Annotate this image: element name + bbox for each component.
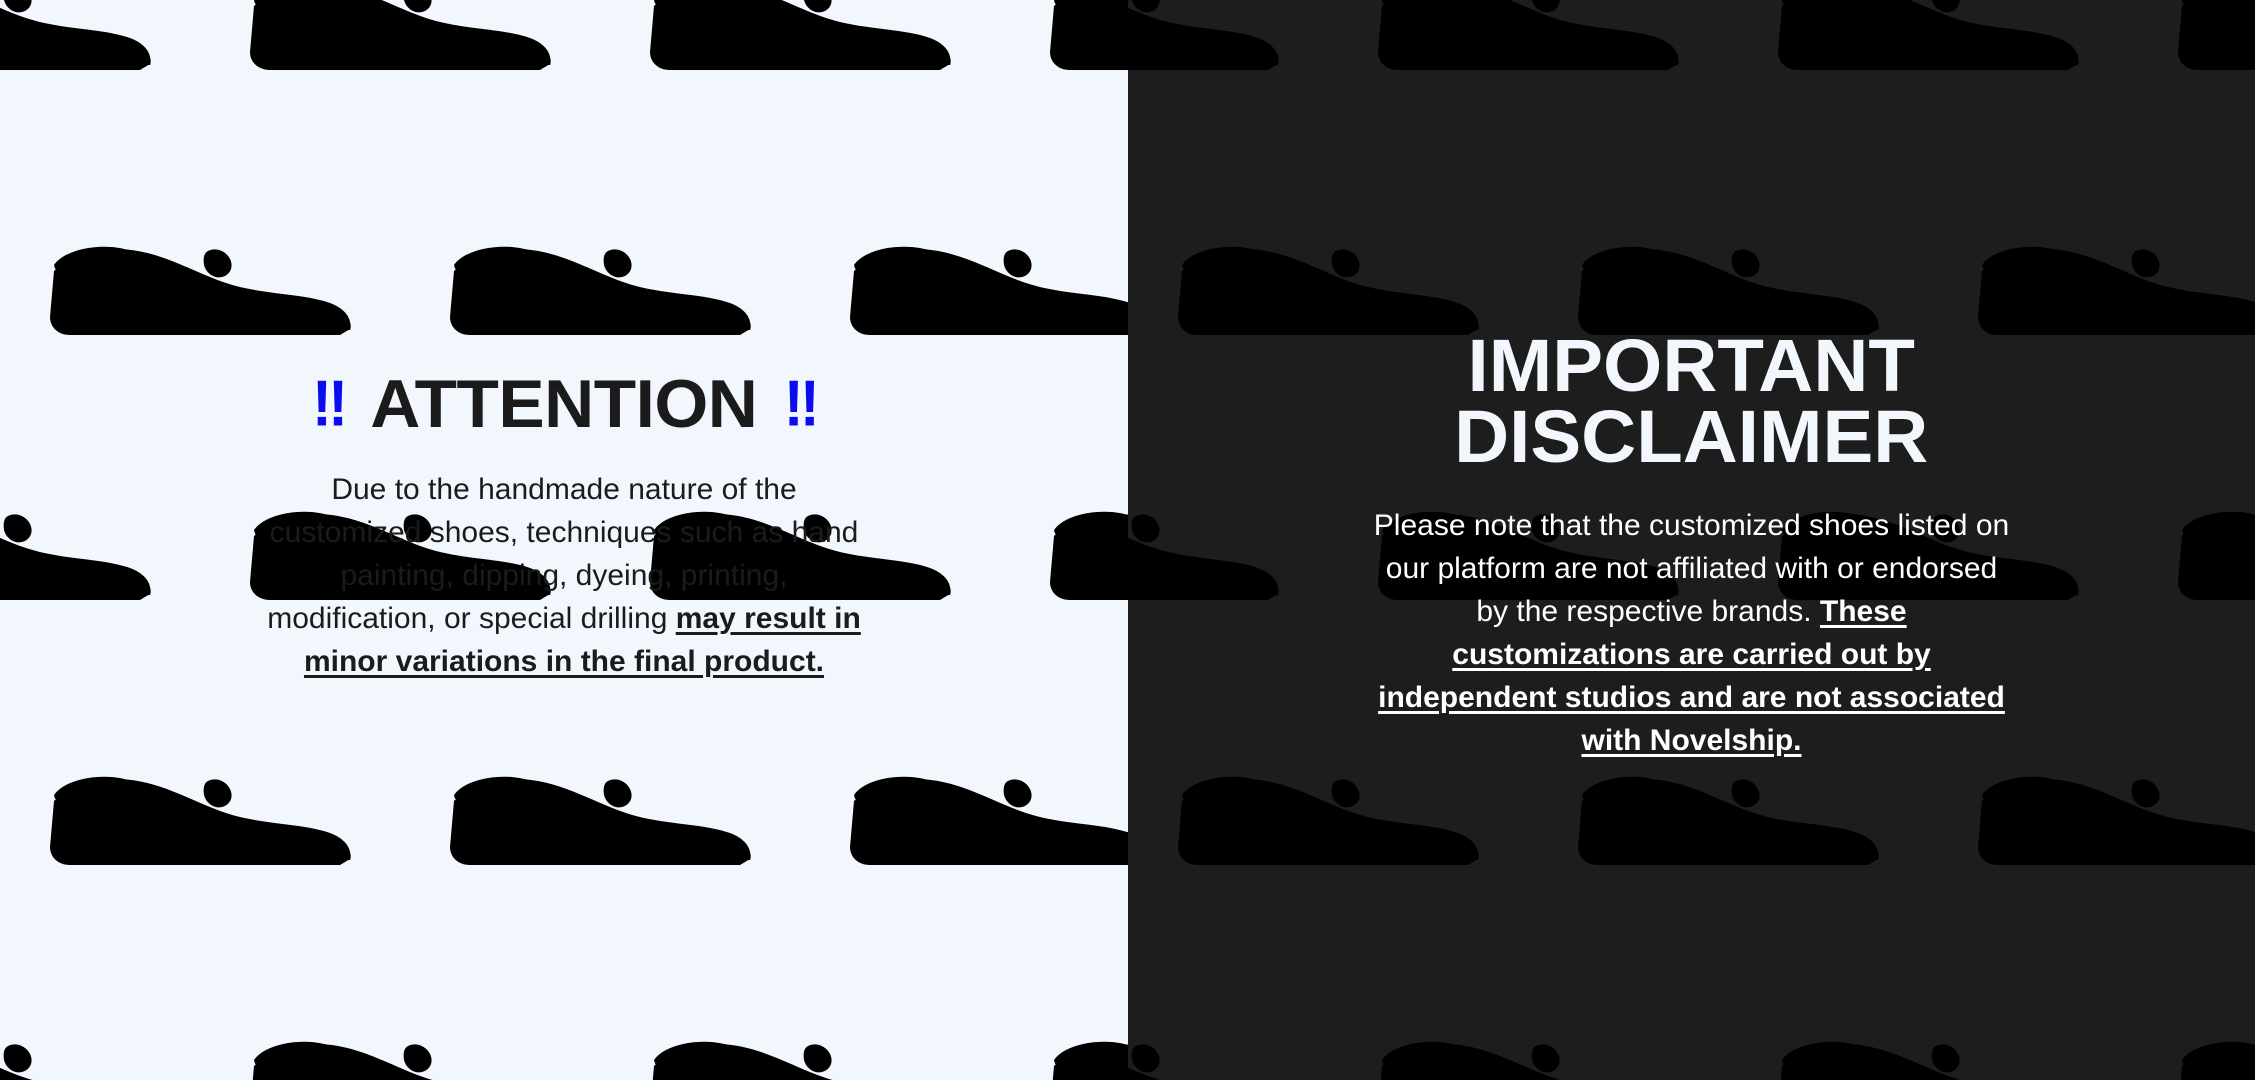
disclaimer-heading-line-2: DISCLAIMER bbox=[1454, 401, 1928, 472]
sneaker-icon bbox=[240, 920, 640, 1080]
split-banner: ‼ ATTENTION ‼ Due to the handmade nature… bbox=[0, 0, 2255, 1080]
sneaker-icon bbox=[40, 655, 440, 920]
sneaker-pattern-row bbox=[1128, 920, 2255, 1080]
disclaimer-body-text: Please note that the customized shoes li… bbox=[1372, 504, 2012, 762]
attention-content: ‼ ATTENTION ‼ Due to the handmade nature… bbox=[0, 0, 1128, 683]
double-exclamation-left-icon: ‼ bbox=[312, 372, 344, 437]
sneaker-pattern-row bbox=[0, 655, 1128, 920]
sneaker-icon bbox=[1040, 920, 1128, 1080]
sneaker-icon bbox=[1128, 920, 1368, 1080]
sneaker-icon bbox=[840, 655, 1128, 920]
sneaker-icon bbox=[2168, 920, 2255, 1080]
disclaimer-body-normal: Please note that the customized shoes li… bbox=[1374, 509, 2009, 628]
attention-heading: ‼ ATTENTION ‼ bbox=[312, 370, 815, 438]
disclaimer-heading: IMPORTANT DISCLAIMER bbox=[1454, 330, 1928, 472]
sneaker-icon bbox=[440, 655, 840, 920]
sneaker-pattern-row bbox=[0, 920, 1128, 1080]
sneaker-icon bbox=[640, 920, 1040, 1080]
sneaker-icon bbox=[1368, 920, 1768, 1080]
attention-heading-text: ATTENTION bbox=[370, 370, 757, 438]
disclaimer-content: IMPORTANT DISCLAIMER Please note that th… bbox=[1128, 0, 2255, 762]
attention-panel: ‼ ATTENTION ‼ Due to the handmade nature… bbox=[0, 0, 1128, 1080]
disclaimer-heading-line-1: IMPORTANT bbox=[1454, 330, 1928, 401]
sneaker-icon bbox=[0, 920, 240, 1080]
sneaker-icon bbox=[0, 655, 40, 920]
attention-body-text: Due to the handmade nature of the custom… bbox=[254, 468, 874, 683]
disclaimer-panel: IMPORTANT DISCLAIMER Please note that th… bbox=[1128, 0, 2255, 1080]
double-exclamation-right-icon: ‼ bbox=[784, 372, 816, 437]
sneaker-icon bbox=[1768, 920, 2168, 1080]
